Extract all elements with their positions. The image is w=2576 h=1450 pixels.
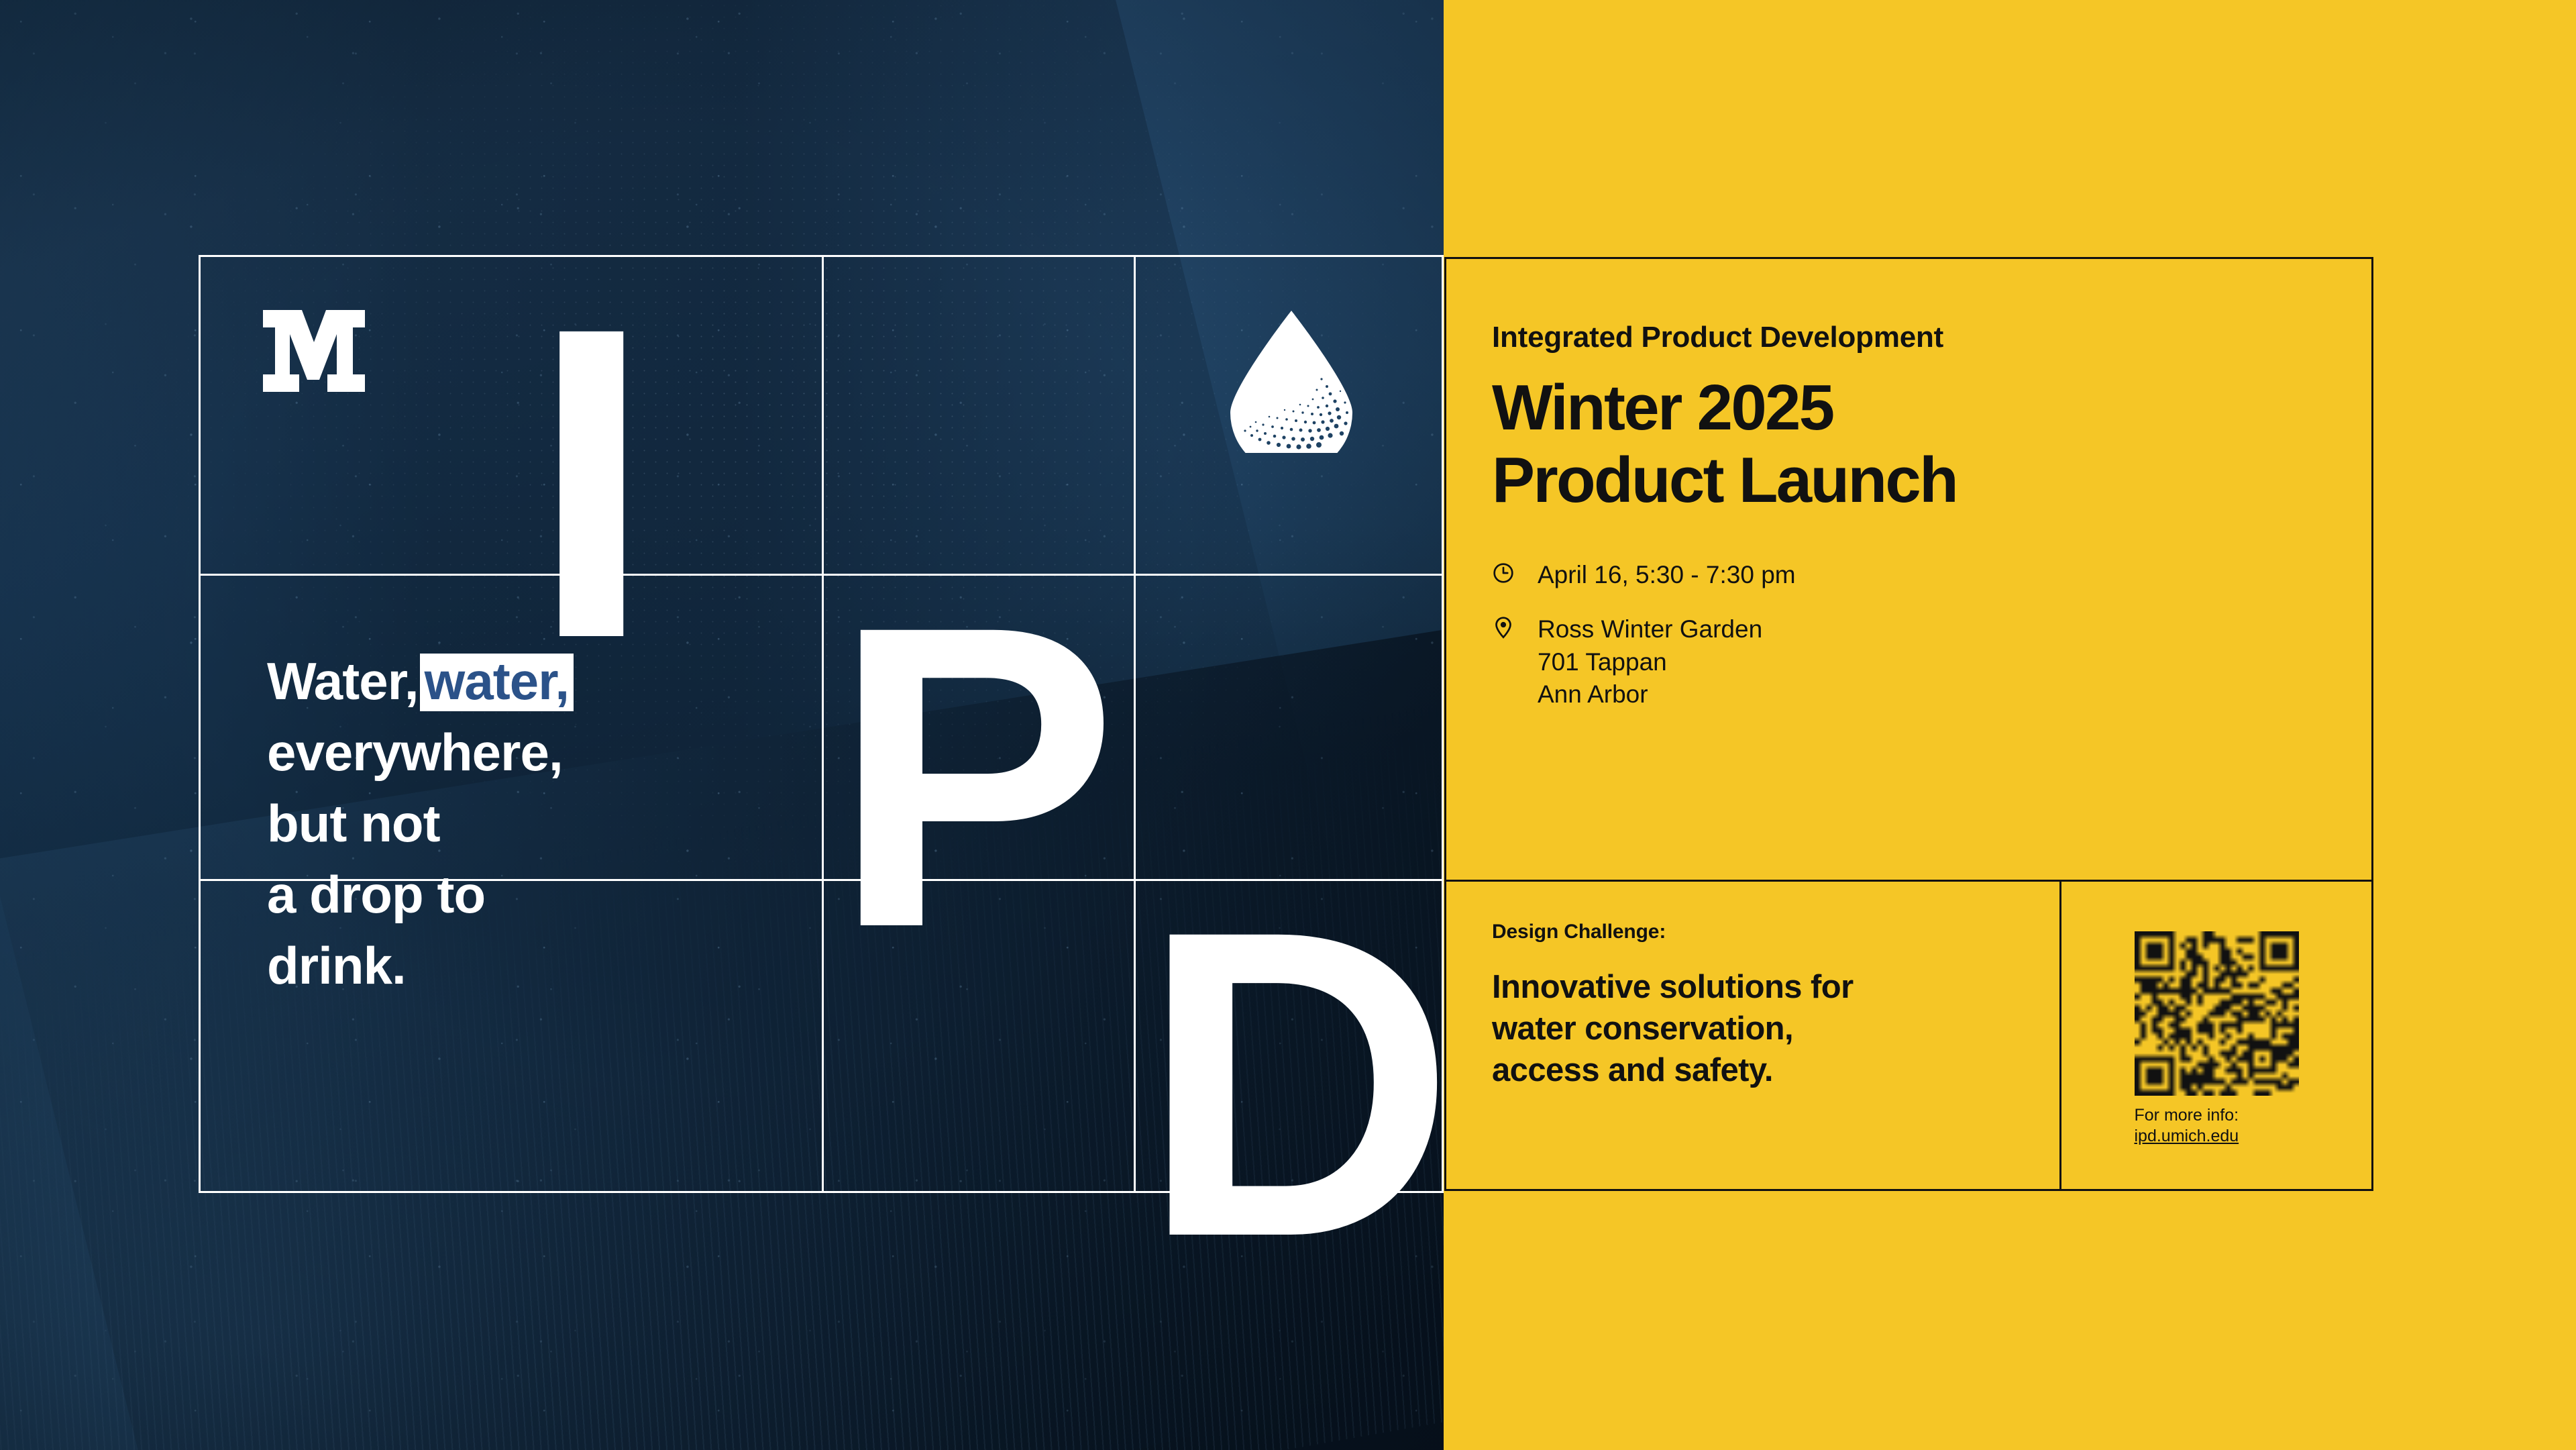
tagline-line-3: but not xyxy=(267,788,804,859)
tagline-word-water-plain: Water, xyxy=(267,652,419,711)
monogram-letter-i: I xyxy=(530,262,644,705)
monogram-letter-d: D xyxy=(1140,866,1446,1302)
event-location-text: Ross Winter Garden 701 Tappan Ann Arbor xyxy=(1538,613,1762,711)
event-datetime-row: April 16, 5:30 - 7:30 pm xyxy=(1492,559,2324,592)
qr-caption: For more info: ipd.umich.edu xyxy=(2135,1105,2299,1147)
design-challenge-text: Innovative solutions for water conservat… xyxy=(1492,966,2033,1092)
qr-caption-url[interactable]: ipd.umich.edu xyxy=(2135,1126,2299,1147)
design-challenge-line-3: access and safety. xyxy=(1492,1049,2033,1091)
monogram-letter-p: P xyxy=(832,562,1110,992)
block-m-logo xyxy=(263,310,365,392)
qr-cell[interactable]: For more info: ipd.umich.edu xyxy=(2059,882,2371,1191)
event-datetime-text: April 16, 5:30 - 7:30 pm xyxy=(1538,559,1796,592)
event-info-primary: Integrated Product Development Winter 20… xyxy=(1446,259,2371,880)
location-pin-icon xyxy=(1492,613,1520,639)
design-challenge-line-1: Innovative solutions for xyxy=(1492,966,2033,1008)
event-location-row: Ross Winter Garden 701 Tappan Ann Arbor xyxy=(1492,613,2324,711)
program-name: Integrated Product Development xyxy=(1492,321,2324,354)
venue-city: Ann Arbor xyxy=(1538,678,1762,711)
clock-icon xyxy=(1492,559,1520,584)
tagline-line-4: a drop to xyxy=(267,859,804,930)
tagline-line-2: everywhere, xyxy=(267,717,804,788)
tagline-word-water-highlighted: water, xyxy=(420,654,574,711)
event-headline-line-2: Product Launch xyxy=(1492,444,2324,517)
event-headline: Winter 2025 Product Launch xyxy=(1492,372,2324,517)
design-challenge-block: Design Challenge: Innovative solutions f… xyxy=(1446,882,2059,1191)
event-info-secondary: Design Challenge: Innovative solutions f… xyxy=(1446,882,2371,1191)
event-meta-list: April 16, 5:30 - 7:30 pm Ross Winter Gar… xyxy=(1492,559,2324,711)
tagline-line-1: Water,water, xyxy=(267,645,804,717)
event-info-box: Integrated Product Development Winter 20… xyxy=(1444,257,2373,1191)
qr-caption-label: For more info: xyxy=(2135,1105,2299,1126)
qr-code[interactable] xyxy=(2135,931,2299,1096)
event-headline-line-1: Winter 2025 xyxy=(1492,372,2324,444)
venue-street: 701 Tappan xyxy=(1538,646,1762,679)
poster-canvas: I P D xyxy=(0,0,2576,1450)
tagline-line-5: drink. xyxy=(267,930,804,1001)
design-challenge-label: Design Challenge: xyxy=(1492,921,2033,943)
tagline-block: Water,water, everywhere, but not a drop … xyxy=(267,645,804,1001)
design-challenge-line-2: water conservation, xyxy=(1492,1008,2033,1049)
water-drop-icon xyxy=(1221,305,1362,453)
venue-name: Ross Winter Garden xyxy=(1538,613,1762,646)
